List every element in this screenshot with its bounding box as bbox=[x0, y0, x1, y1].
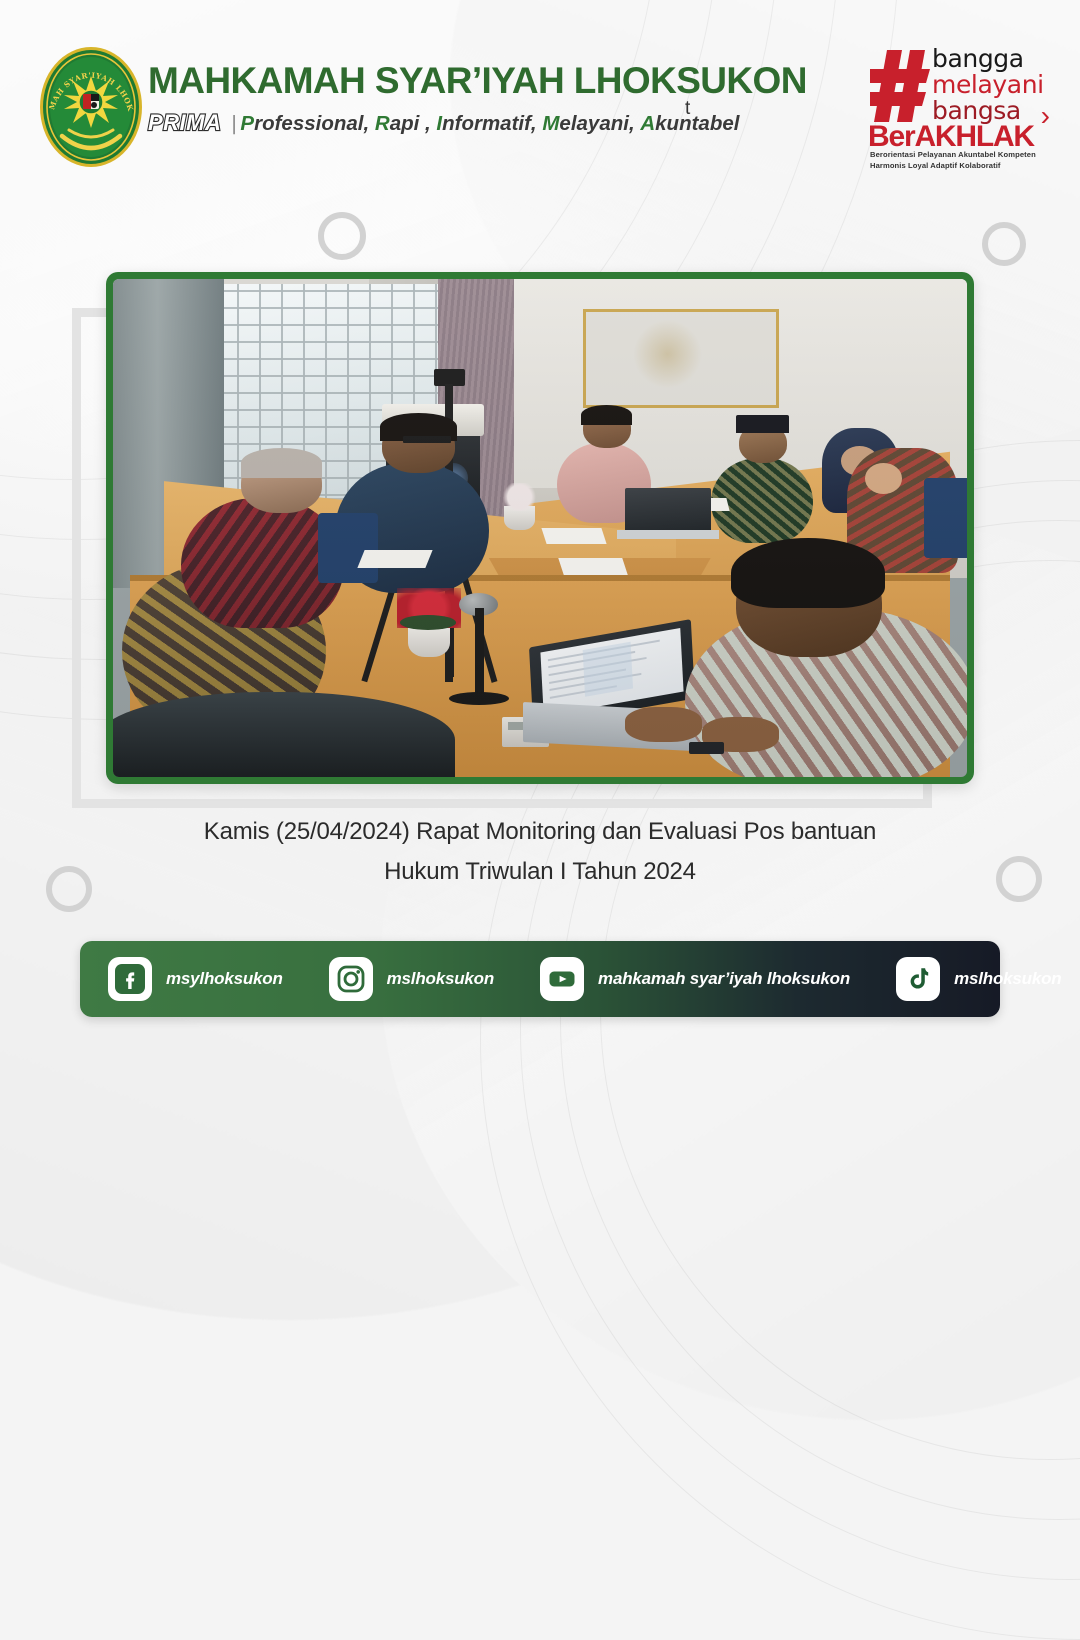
header-tagline: PRIMA |Professional, Rapi , Informatif, … bbox=[148, 110, 848, 136]
photo-card bbox=[106, 272, 974, 784]
tagline-part-professional: Professional, bbox=[240, 112, 369, 135]
berakhlak-wordlines: bangga melayani bangsa bbox=[932, 46, 1044, 124]
meeting-room-photo bbox=[113, 279, 967, 777]
instagram-handle[interactable]: mslhoksukon bbox=[387, 969, 494, 989]
akhlak-line-bangga: bangga bbox=[932, 46, 1044, 72]
decorative-ring bbox=[318, 212, 366, 260]
page-title: MAHKAMAH SYAR’IYAH LHOKSUKON bbox=[148, 62, 848, 101]
youtube-icon[interactable] bbox=[540, 957, 584, 1001]
facebook-icon[interactable] bbox=[108, 957, 152, 1001]
tagline-part-informatif: Informatif, bbox=[436, 112, 536, 135]
facebook-handle[interactable]: msylhoksukon bbox=[166, 969, 283, 989]
berakhlak-tagline-line1: Berorientasi Pelayanan Akuntabel Kompete… bbox=[870, 150, 1036, 159]
tagline-part-rapi: Rapi , bbox=[375, 112, 431, 135]
court-seal-emblem: MAHKAMAH SYAR'IYAH LHOKSUKON bbox=[36, 44, 146, 170]
tiktok-handle[interactable]: mslhoksukon bbox=[954, 969, 1061, 989]
berakhlak-logo: bangga melayani bangsa BerAKHLAK › Beror… bbox=[866, 44, 1048, 166]
social-item-youtube[interactable]: mahkamah syar’iyah lhoksukon bbox=[540, 941, 850, 1017]
header: MAHKAMAH SYAR'IYAH LHOKSUKON MAHKAMAH SY… bbox=[0, 0, 1080, 180]
berakhlak-tagline-line2: Harmonis Loyal Adaptif Kolaboratif bbox=[870, 161, 1001, 170]
caption: Kamis (25/04/2024) Rapat Monitoring dan … bbox=[90, 812, 990, 892]
tagline-part-melayani: Melayani, bbox=[542, 112, 634, 135]
instagram-icon[interactable] bbox=[329, 957, 373, 1001]
hashtag-icon bbox=[870, 50, 932, 122]
caption-line-2: Hukum Triwulan I Tahun 2024 bbox=[90, 852, 990, 892]
decorative-ring bbox=[46, 866, 92, 912]
caption-line-1: Kamis (25/04/2024) Rapat Monitoring dan … bbox=[90, 812, 990, 852]
social-media-bar: msylhoksukon mslhoksukon mahkamah syar’i… bbox=[80, 941, 1000, 1017]
tagline-separator: | bbox=[227, 112, 240, 135]
tiktok-icon[interactable] bbox=[896, 957, 940, 1001]
berakhlak-wordmark: BerAKHLAK bbox=[868, 120, 1034, 154]
social-item-instagram[interactable]: mslhoksukon bbox=[329, 941, 494, 1017]
berakhlak-ber: Ber bbox=[868, 120, 914, 153]
stray-character: t bbox=[685, 98, 690, 120]
youtube-handle[interactable]: mahkamah syar’iyah lhoksukon bbox=[598, 969, 850, 989]
header-text-block: MAHKAMAH SYAR’IYAH LHOKSUKON PRIMA |Prof… bbox=[148, 62, 848, 136]
decorative-ring bbox=[996, 856, 1042, 902]
decorative-ring bbox=[982, 222, 1026, 266]
berakhlak-tagline: Berorientasi Pelayanan Akuntabel Kompete… bbox=[870, 150, 1036, 171]
chevron-right-icon: › bbox=[1041, 100, 1050, 132]
social-item-tiktok[interactable]: mslhoksukon bbox=[896, 941, 1061, 1017]
social-item-facebook[interactable]: msylhoksukon bbox=[108, 941, 283, 1017]
prima-acronym: PRIMA bbox=[148, 110, 221, 135]
akhlak-line-melayani: melayani bbox=[932, 72, 1044, 98]
photo-color-grade bbox=[113, 279, 967, 777]
berakhlak-akhlak: AKHLAK bbox=[914, 120, 1033, 153]
